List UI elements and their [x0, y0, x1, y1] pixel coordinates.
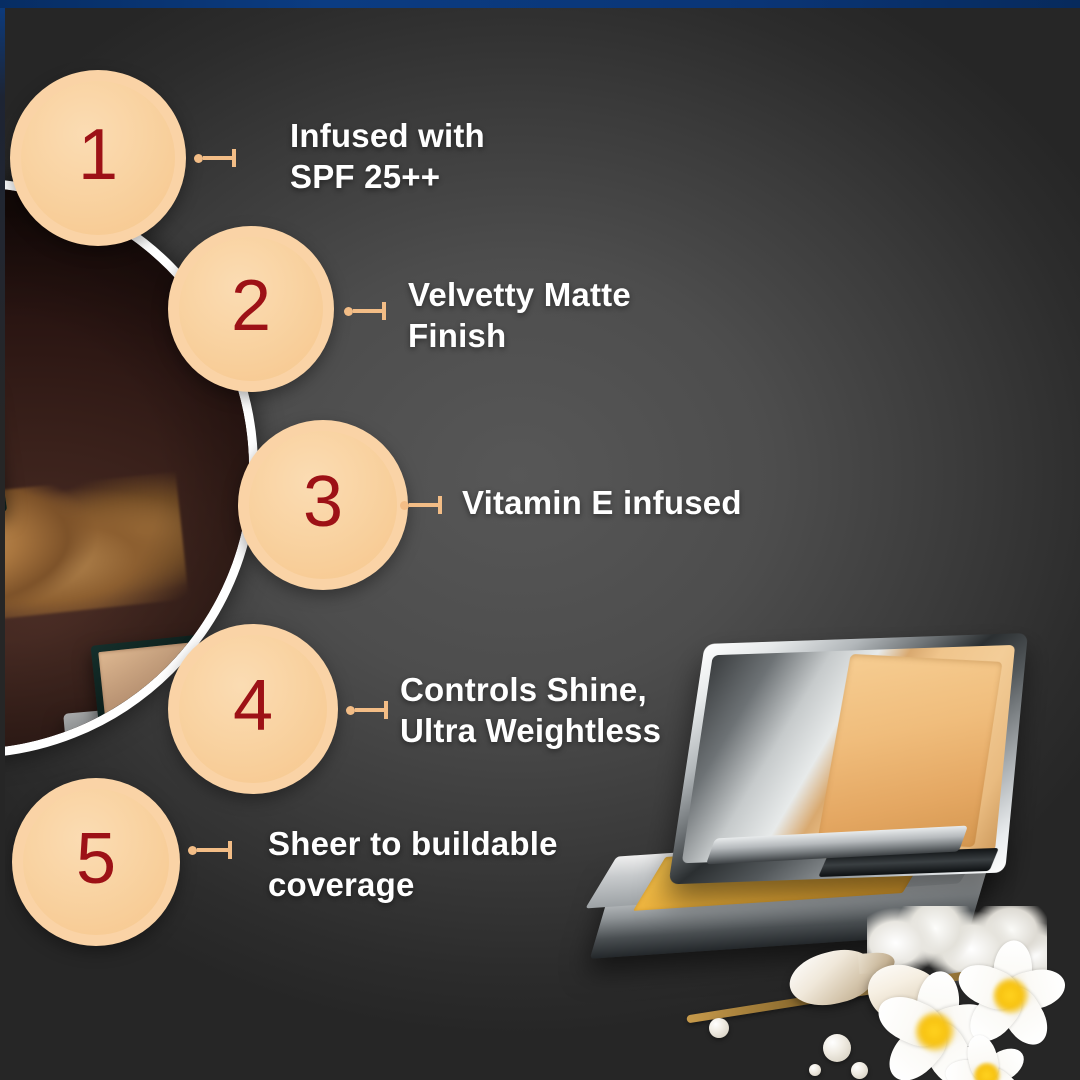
connector-line [409, 503, 438, 507]
feature-text-5: Sheer to buildable coverage [268, 824, 558, 905]
feature-text-3: Vitamin E infused [462, 483, 742, 524]
bubble-number: 4 [233, 670, 273, 742]
connector-dot [194, 154, 203, 163]
feature-bubble-2[interactable]: 2 [168, 226, 334, 392]
feature-text-4: Controls Shine, Ultra Weightless [400, 670, 661, 751]
connector-5 [188, 841, 232, 859]
hero-product-image [595, 600, 1080, 1080]
connector-1 [194, 149, 236, 167]
bubble-number: 2 [231, 270, 271, 342]
top-accent-bar [0, 0, 1080, 8]
left-accent-bar [0, 0, 5, 1080]
connector-4 [346, 701, 388, 719]
connector-line [203, 156, 232, 160]
connector-cap [228, 841, 232, 859]
connector-cap [384, 701, 388, 719]
pearl-icon [851, 1062, 868, 1079]
connector-line [355, 708, 384, 712]
connector-cap [382, 302, 386, 320]
infographic-canvas: 1 2 3 4 5 Infused with [0, 0, 1080, 1080]
connector-dot [400, 501, 409, 510]
bubble-number: 5 [76, 823, 116, 895]
connector-2 [344, 302, 386, 320]
feature-bubble-5[interactable]: 5 [12, 778, 180, 946]
feature-bubble-3[interactable]: 3 [238, 420, 408, 590]
feature-bubble-4[interactable]: 4 [168, 624, 338, 794]
feature-text-2: Velvetty Matte Finish [408, 275, 631, 356]
connector-line [353, 309, 382, 313]
bubble-number: 3 [303, 466, 343, 538]
feature-bubble-1[interactable]: 1 [10, 70, 186, 246]
connector-3 [400, 496, 442, 514]
connector-line [197, 848, 228, 852]
connector-dot [344, 307, 353, 316]
connector-dot [188, 846, 197, 855]
connector-cap [232, 149, 236, 167]
bubble-number: 1 [78, 119, 118, 191]
pearl-icon [709, 1018, 729, 1038]
pearl-icon [809, 1064, 821, 1076]
feature-text-1: Infused with SPF 25++ [290, 116, 485, 197]
pearl-icon [823, 1034, 851, 1062]
compact-lid-powder-pan [818, 654, 1003, 847]
decor-cluster [675, 900, 1075, 1080]
connector-cap [438, 496, 442, 514]
connector-dot [346, 706, 355, 715]
